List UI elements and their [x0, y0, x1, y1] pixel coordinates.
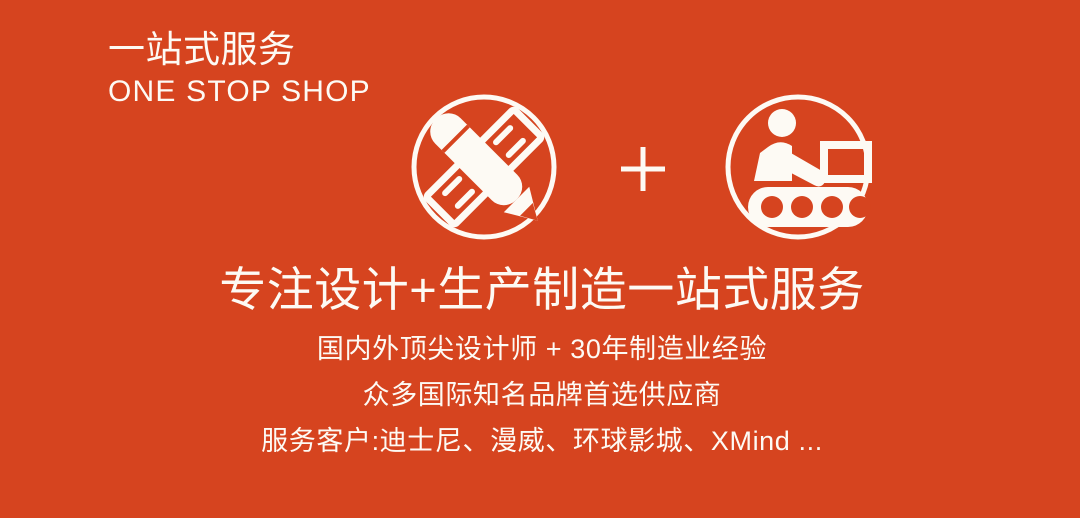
icon-row — [404, 87, 884, 249]
production-icon — [718, 87, 878, 247]
sub-line-2: 众多国际知名品牌首选供应商 — [2, 372, 1080, 418]
plus-icon — [619, 145, 667, 193]
copy-block: 专注设计+生产制造一站式服务 国内外顶尖设计师 + 30年制造业经验 众多国际知… — [0, 262, 1080, 464]
design-icon — [404, 87, 564, 247]
sub-line-3: 服务客户:迪士尼、漫威、环球影城、XMind ... — [2, 418, 1080, 464]
sub-line-1: 国内外顶尖设计师 + 30年制造业经验 — [2, 326, 1080, 372]
promo-banner: 一站式服务 ONE STOP SHOP — [0, 0, 1080, 518]
sub-line-list: 国内外顶尖设计师 + 30年制造业经验 众多国际知名品牌首选供应商 服务客户:迪… — [0, 326, 1080, 464]
brand-title-cn: 一站式服务 — [108, 28, 528, 72]
headline: 专注设计+生产制造一站式服务 — [2, 262, 1080, 318]
